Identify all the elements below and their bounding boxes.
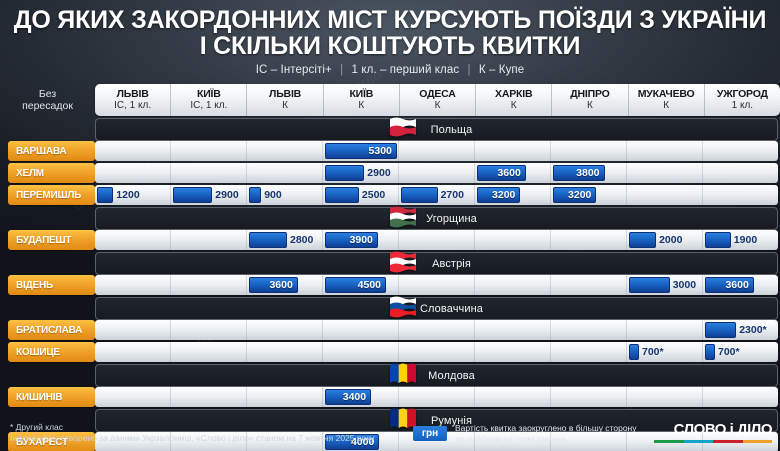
country-band-inner: Польща [95,118,778,141]
table-cell [551,230,627,250]
value-label: 3400 [343,391,370,403]
row-cells: 2800390020001900 [95,230,778,250]
table-cell [399,141,475,161]
table-cell [475,141,551,161]
table-cell [171,320,247,340]
value-bar [249,232,287,248]
table-cell: 2000 [627,230,703,250]
value-bar: 3600 [477,165,526,181]
hungary-flag-icon [390,206,416,228]
table-cell [551,387,627,407]
city-name: КОШИЦЕ [8,347,60,358]
column-header-7: ДНІПРОК [552,84,628,116]
table-cell [627,185,703,205]
table-cell [399,230,475,250]
value-label: 700* [642,344,664,360]
table-body: ПольщаВАРШАВА5300ХЕЛМ290036003800ПЕРЕМИШ… [0,118,780,451]
table-cell [247,342,323,362]
infographic-poster: СЛОВО І ДІЛО СЛОВО І ДІЛО СЛОВО І ДІЛО С… [0,0,780,451]
city-label-pill: ВІДЕНЬ [8,275,95,295]
value-label: 3600 [497,167,524,179]
brand-logo: СЛОВО і ДІЛО [654,422,772,443]
table-cell: 3200 [551,185,627,205]
column-header-2: КИЇВІС, 1 кл. [171,84,247,116]
value-bar: 3200 [553,187,596,203]
table-cell: 700* [627,342,703,362]
column-city: ЛЬВІВ [269,88,301,100]
table-cell [475,342,551,362]
table-cell [399,275,475,295]
column-header-4: КИЇВК [324,84,400,116]
country-name: Польща [431,124,473,136]
country-band: Угорщина [0,207,780,228]
table-cell [627,141,703,161]
value-bar [705,232,731,248]
table-cell [399,387,475,407]
table-cell [247,320,323,340]
value-bar [325,165,364,181]
value-bar: 3200 [477,187,520,203]
table-cell [475,230,551,250]
column-header-1: ЛЬВІВІС, 1 кл. [95,84,171,116]
rounding-note: Вартість квитка заокруглено в більшу сто… [455,423,636,445]
value-bar: 3600 [705,277,754,293]
value-label: 2700 [441,187,464,203]
brand-logo-text: СЛОВО і ДІЛО [654,422,772,438]
column-class: К [587,100,593,112]
country-band: Словаччина [0,297,780,318]
column-city: ДНІПРО [570,88,609,100]
table-cell [627,320,703,340]
value-bar: 4500 [325,277,386,293]
value-label: 1200 [116,187,139,203]
column-header-9: УЖГОРОД1 кл. [705,84,780,116]
legend-separator: | [463,64,476,76]
table-cell [95,275,171,295]
fares-table: Без пересадок ЛЬВІВІС, 1 кл.КИЇВІС, 1 кл… [0,84,780,451]
austria-flag-icon [390,251,416,273]
table-cell [95,320,171,340]
table-row: БУДАПЕШТ2800390020001900 [0,230,780,250]
value-label: 3600 [269,279,296,291]
column-header-6: ХАРКІВК [476,84,552,116]
page-title: ДО ЯКИХ ЗАКОРДОННИХ МІСТ КУРСУЮТЬ ПОЇЗДИ… [0,7,780,59]
corner-line-1: Без [39,88,56,100]
table-cell [703,163,778,183]
country-band: Польща [0,118,780,139]
row-cells: 3400 [95,387,778,407]
rounding-line-1: Вартість квитка заокруглено в більшу сто… [455,423,636,434]
legend-item-ic: ІС – Інтерсіті+ [256,64,332,76]
country-band-inner: Словаччина [95,297,778,320]
row-cells: 700*700* [95,342,778,362]
logo-bar-orange [743,440,773,443]
table-row: ВАРШАВА5300 [0,141,780,161]
table-header-row: Без пересадок ЛЬВІВІС, 1 кл.КИЇВІС, 1 кл… [0,84,780,116]
city-label-pill: ПЕРЕМИШЛЬ [8,185,95,205]
column-city: МУКАЧЕВО [638,88,695,100]
logo-bar-red [713,440,743,443]
column-class: К [282,100,288,112]
table-cell: 2500 [323,185,399,205]
footer-notes: * Другий клас Інфографіку створено за да… [10,422,374,444]
value-label: 900 [264,187,282,203]
table-cell: 700* [703,342,778,362]
value-bar [173,187,212,203]
country-band: Молдова [0,364,780,385]
logo-bar-green [654,440,684,443]
table-cell [399,163,475,183]
city-name: БУДАПЕШТ [8,235,71,246]
table-cell: 1200 [95,185,171,205]
city-label-pill: ВАРШАВА [8,141,95,161]
table-cell [551,275,627,295]
table-cell [551,342,627,362]
value-bar: 3800 [553,165,605,181]
column-class: ІС, 1 кл. [114,100,151,112]
corner-line-2: пересадок [22,100,73,112]
footnote-second-class: * Другий клас [10,422,374,433]
row-cells: 2300* [95,320,778,340]
value-bar [629,232,656,248]
value-label: 2900 [367,165,390,181]
table-cell [323,342,399,362]
table-cell [399,320,475,340]
city-label-pill: ХЕЛМ [8,163,95,183]
column-header-3: ЛЬВІВК [247,84,323,116]
country-name: Австрія [432,258,471,270]
table-cell: 3600 [247,275,323,295]
table-cell [171,163,247,183]
table-cell [399,342,475,362]
table-cell [247,163,323,183]
value-label: 2900 [215,187,238,203]
table-cell [627,163,703,183]
table-cell [95,141,171,161]
table-cell: 2700 [399,185,475,205]
city-name: БРАТИСЛАВА [8,325,82,336]
city-name: ХЕЛМ [8,168,44,179]
table-corner-label: Без пересадок [0,84,95,116]
value-label: 3600 [725,279,752,291]
city-name: КИШИНІВ [8,392,62,403]
column-class: 1 кл. [732,100,753,112]
value-label: 3900 [350,234,377,246]
column-class: К [358,100,364,112]
currency-badge: грн [413,426,447,441]
column-header-8: МУКАЧЕВОК [629,84,705,116]
table-cell [171,387,247,407]
rounding-line-2: до найближчої сотні гривень [455,434,636,445]
value-label: 5300 [369,145,396,157]
value-label: 1900 [734,232,757,248]
city-label-pill: КОШИЦЕ [8,342,95,362]
column-class: К [511,100,517,112]
title-line-2: І СКІЛЬКИ КОШТУЮТЬ КВИТКИ [0,33,780,59]
slovakia-flag-icon [390,296,416,318]
column-city: КИЇВ [197,88,221,100]
value-bar [629,277,670,293]
legend-item-coupe: К – Купе [479,64,524,76]
table-cell [95,230,171,250]
row-cells: 290036003800 [95,163,778,183]
value-label: 2500 [362,187,385,203]
table-cell: 2900 [171,185,247,205]
brand-logo-bar [654,440,772,443]
city-label-pill: БУДАПЕШТ [8,230,95,250]
table-row: КОШИЦЕ700*700* [0,342,780,362]
table-cell [171,230,247,250]
table-cell [703,185,778,205]
table-cell: 4500 [323,275,399,295]
table-cell: 3600 [475,163,551,183]
table-row: БРАТИСЛАВА2300* [0,320,780,340]
table-cell: 3200 [475,185,551,205]
table-row: КИШИНІВ3400 [0,387,780,407]
value-bar [401,187,438,203]
table-cell [323,320,399,340]
value-label: 3200 [568,189,595,201]
column-city: ХАРКІВ [495,88,532,100]
table-cell [551,320,627,340]
column-city: ОДЕСА [419,88,455,100]
value-bar [705,344,715,360]
table-cell [627,387,703,407]
row-cells: 3600450030003600 [95,275,778,295]
row-cells: 120029009002500270032003200 [95,185,778,205]
value-bar: 3600 [249,277,298,293]
column-city: УЖГОРОД [717,88,768,100]
table-cell [475,387,551,407]
table-row: ВІДЕНЬ3600450030003600 [0,275,780,295]
table-cell [171,141,247,161]
column-header-5: ОДЕСАК [400,84,476,116]
table-cell: 900 [247,185,323,205]
value-bar: 5300 [325,143,397,159]
country-name: Молдова [428,370,475,382]
value-bar: 3400 [325,389,371,405]
table-cell [95,163,171,183]
country-band: Австрія [0,252,780,273]
country-name: Словаччина [420,303,483,315]
value-bar [97,187,113,203]
city-name: ВІДЕНЬ [8,280,53,291]
country-band-inner: Угорщина [95,207,778,230]
table-row: ХЕЛМ290036003800 [0,163,780,183]
city-name: ВАРШАВА [8,146,66,157]
country-band-inner: Австрія [95,252,778,275]
poland-flag-icon [390,117,416,139]
value-label: 700* [718,344,740,360]
legend: ІС – Інтерсіті+ | 1 кл. – перший клас | … [0,64,780,76]
country-band-inner: Молдова [95,364,778,387]
column-class: К [663,100,669,112]
value-bar [629,344,639,360]
moldova-flag-icon [390,363,416,385]
value-label: 2300* [739,322,766,338]
value-label: 3800 [576,167,603,179]
table-cell [247,387,323,407]
city-name: ПЕРЕМИШЛЬ [8,190,81,201]
footnote-source: Інфографіку створено за даними Укрзалізн… [10,433,374,444]
value-bar: 3900 [325,232,378,248]
table-cell [703,141,778,161]
row-cells: 5300 [95,141,778,161]
table-cell [95,342,171,362]
table-cell [551,141,627,161]
table-cell: 1900 [703,230,778,250]
table-cell: 3400 [323,387,399,407]
table-cell [475,275,551,295]
column-city: КИЇВ [349,88,373,100]
table-cell: 5300 [323,141,399,161]
value-label: 2000 [659,232,682,248]
logo-bar-blue [684,440,714,443]
table-cell: 3900 [323,230,399,250]
value-label: 4500 [358,279,385,291]
table-cell [703,387,778,407]
value-label: 3200 [492,189,519,201]
title-line-1: ДО ЯКИХ ЗАКОРДОННИХ МІСТ КУРСУЮТЬ ПОЇЗДИ… [14,6,767,34]
country-name: Угорщина [426,213,477,225]
value-bar [249,187,261,203]
legend-separator: | [335,64,348,76]
value-bar [705,322,736,338]
table-cell [171,342,247,362]
table-cell: 3800 [551,163,627,183]
city-label-pill: БРАТИСЛАВА [8,320,95,340]
column-class: К [435,100,441,112]
table-cell: 3600 [703,275,778,295]
city-label-pill: КИШИНІВ [8,387,95,407]
table-cell: 2900 [323,163,399,183]
table-cell: 2800 [247,230,323,250]
value-bar [325,187,359,203]
column-headers: ЛЬВІВІС, 1 кл.КИЇВІС, 1 кл.ЛЬВІВККИЇВКОД… [95,84,780,116]
value-label: 3000 [673,277,696,293]
footer: * Другий клас Інфографіку створено за да… [0,418,780,451]
legend-item-first-class: 1 кл. – перший клас [352,64,460,76]
table-cell [475,320,551,340]
value-label: 2800 [290,232,313,248]
table-cell [247,141,323,161]
table-cell: 3000 [627,275,703,295]
table-cell [171,275,247,295]
table-cell [95,387,171,407]
table-cell: 2300* [703,320,778,340]
column-class: ІС, 1 кл. [190,100,227,112]
table-row: ПЕРЕМИШЛЬ120029009002500270032003200 [0,185,780,205]
column-city: ЛЬВІВ [117,88,149,100]
